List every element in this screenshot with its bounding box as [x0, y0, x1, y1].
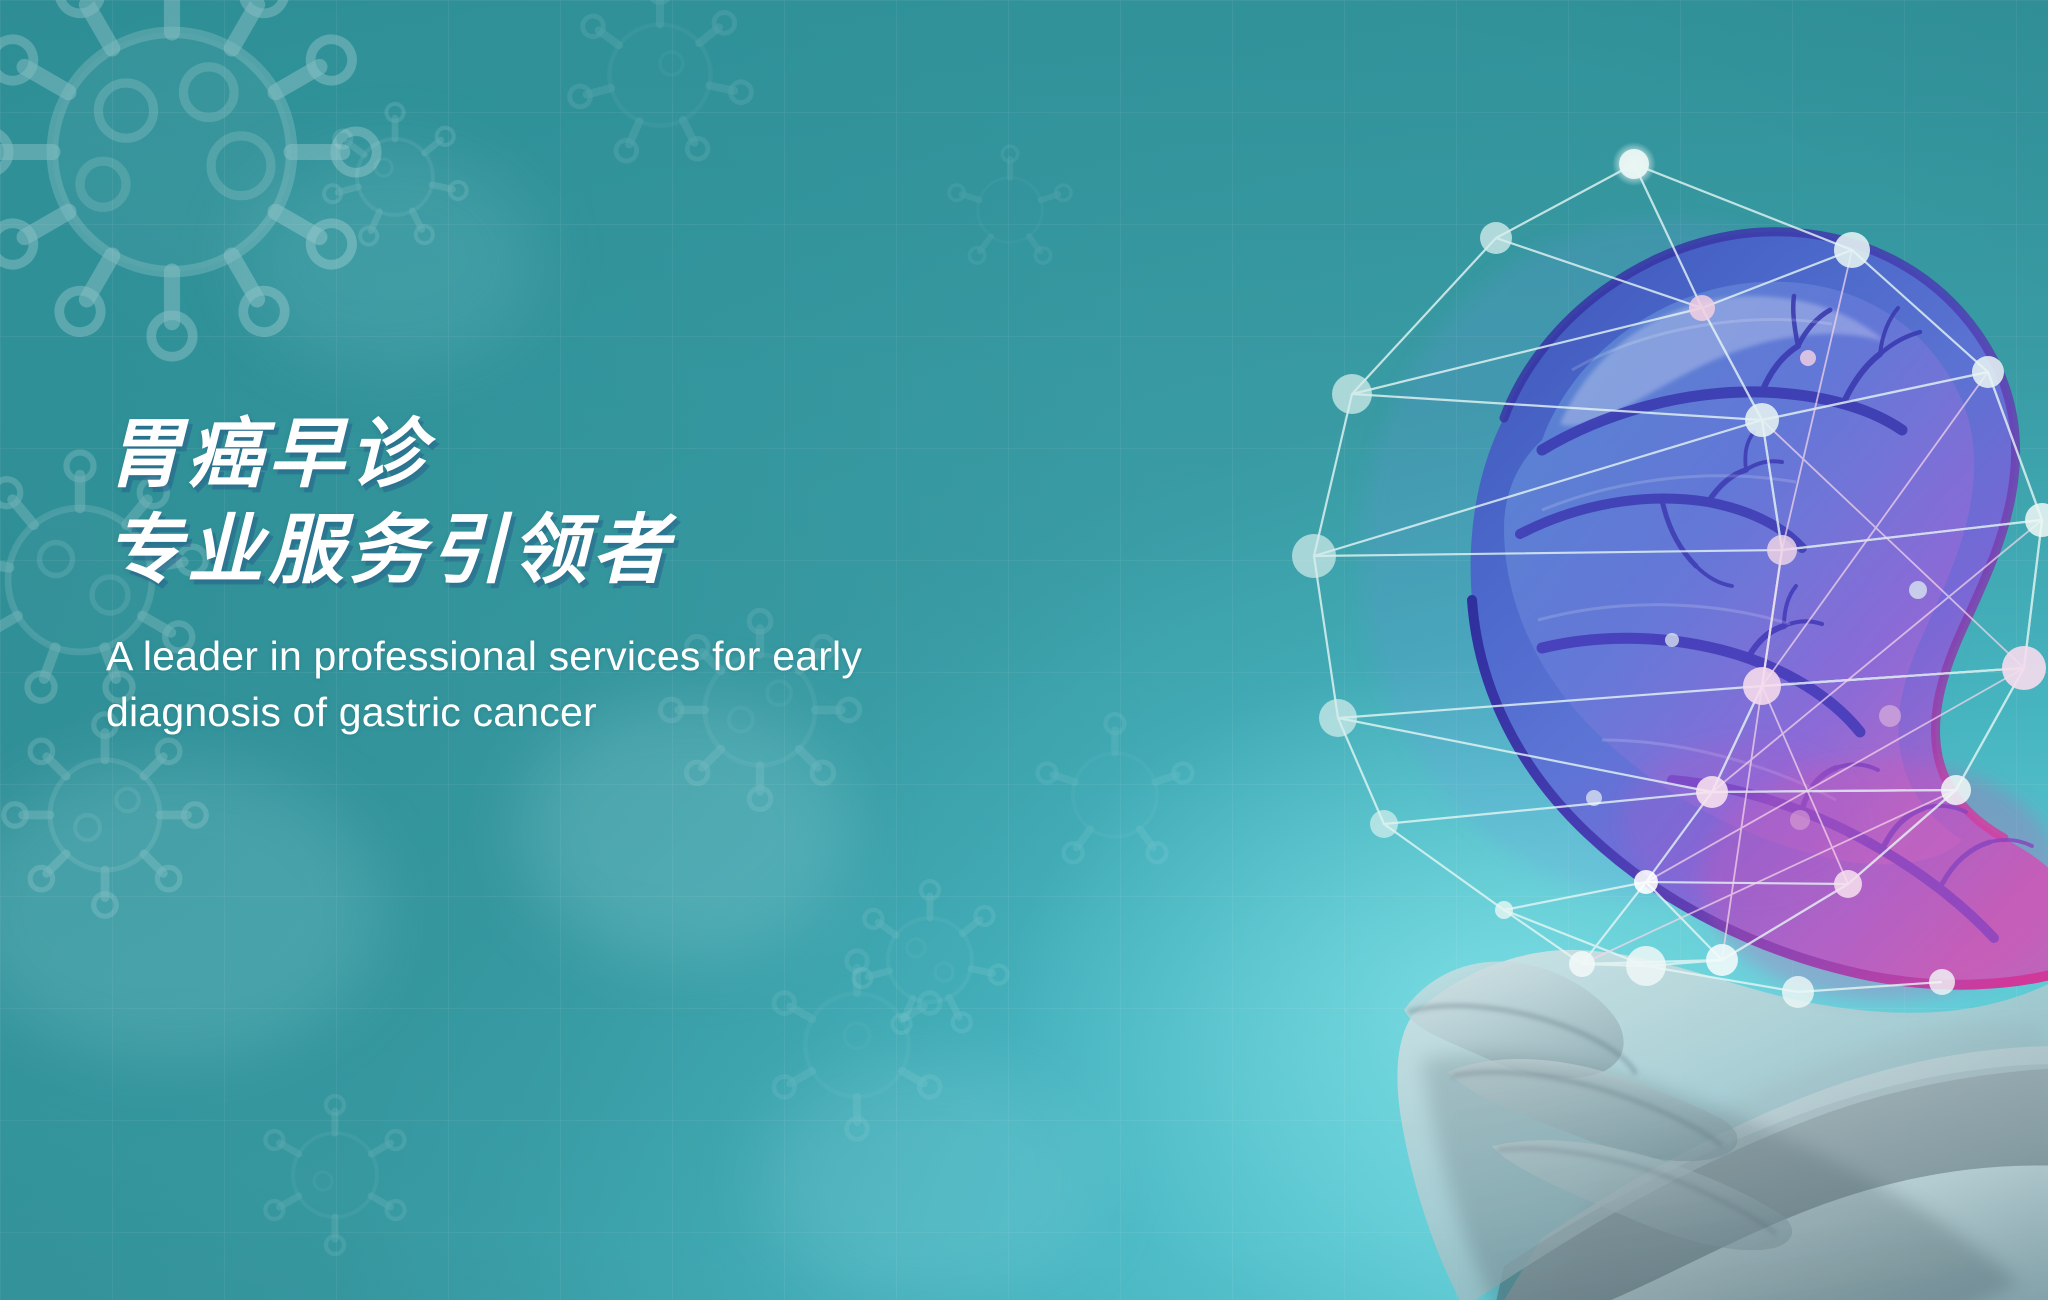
headline-line-1: 胃癌早诊: [106, 416, 1106, 494]
banner-hero: 胃癌早诊 专业服务引领者 A leader in professional se…: [0, 0, 2048, 1300]
subheadline-line-2: diagnosis of gastric cancer: [106, 685, 1106, 741]
hero-copy: 胃癌早诊 专业服务引领者 A leader in professional se…: [106, 416, 1106, 741]
subheadline: A leader in professional services for ea…: [106, 629, 1106, 741]
subheadline-line-1: A leader in professional services for ea…: [106, 629, 1106, 685]
headline-line-2: 专业服务引领者: [106, 512, 1106, 590]
